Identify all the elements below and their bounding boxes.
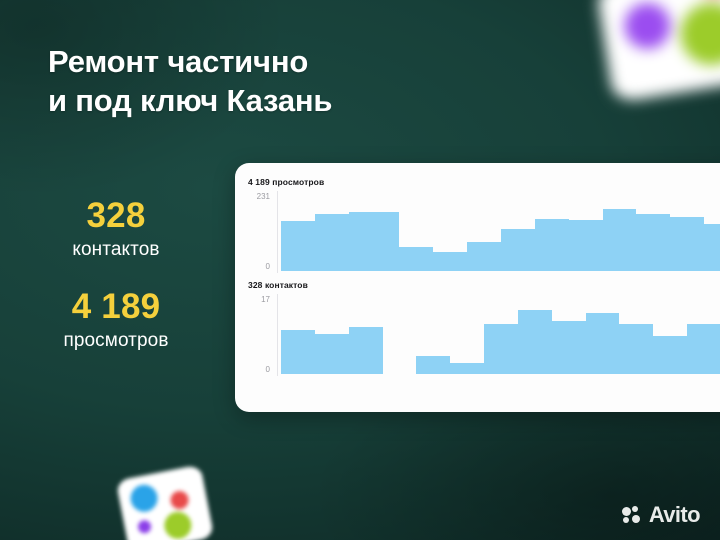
- tile-dot-green: [162, 510, 194, 540]
- statistics-card: 4 189 просмотров 231 0 328 контактов 17 …: [235, 163, 720, 412]
- tile-dot-blue: [128, 482, 160, 514]
- bar: [653, 214, 670, 271]
- stat-item-contacts: 328 контактов: [0, 196, 232, 261]
- chart-plot-area: 231 0: [235, 193, 720, 271]
- y-axis: 17 0: [235, 296, 279, 374]
- bar: [332, 214, 349, 271]
- bar: [518, 229, 535, 271]
- stat-value: 4 189: [0, 287, 232, 328]
- y-tick-max: 231: [257, 193, 270, 201]
- page-title: Ремонт частично и под ключ Казань: [48, 42, 468, 120]
- chart-views: 4 189 просмотров 231 0: [235, 163, 720, 271]
- stat-value: 328: [0, 196, 232, 237]
- avito-wordmark: Avito: [649, 504, 700, 526]
- chart-title: 328 контактов: [235, 271, 720, 290]
- stat-item-views: 4 189 просмотров: [0, 287, 232, 352]
- bar: [636, 324, 653, 374]
- bar: [535, 310, 552, 374]
- bar: [687, 324, 704, 374]
- bar: [586, 220, 603, 271]
- bar: [281, 330, 298, 374]
- y-tick-min: 0: [266, 366, 270, 374]
- avito-logo: Avito: [622, 504, 700, 526]
- bar: [349, 212, 366, 271]
- bar: [653, 336, 670, 374]
- chart-plot-area: 17 0: [235, 296, 720, 374]
- bar: [636, 214, 653, 271]
- bar: [281, 221, 298, 271]
- bar: [484, 324, 501, 374]
- tile-dot-green: [676, 0, 720, 69]
- bar: [687, 217, 704, 271]
- bar: [670, 336, 687, 374]
- bar: [416, 247, 433, 271]
- bar: [535, 219, 552, 271]
- bar: [467, 363, 484, 374]
- y-axis-line: [277, 294, 278, 376]
- bar: [450, 252, 467, 271]
- bar-series-views: [281, 193, 720, 271]
- bar-series-contacts: [281, 296, 720, 374]
- bar: [433, 252, 450, 271]
- bar: [484, 242, 501, 271]
- tile-dot-purple: [137, 519, 152, 534]
- bar: [467, 242, 484, 271]
- bar: [569, 321, 586, 374]
- bar: [552, 321, 569, 374]
- promo-banner: Ремонт частично и под ключ Казань 328 ко…: [0, 0, 720, 540]
- bar: [366, 327, 383, 374]
- tile-dot-red: [169, 490, 190, 511]
- bar: [298, 221, 315, 271]
- chart-contacts: 328 контактов 17 0: [235, 271, 720, 374]
- bar: [298, 330, 315, 374]
- bar: [603, 209, 620, 271]
- stats-list: 328 контактов 4 189 просмотров: [0, 196, 232, 353]
- bar: [552, 219, 569, 271]
- y-axis-line: [277, 191, 278, 273]
- bar: [586, 313, 603, 374]
- stat-label: контактов: [0, 239, 232, 262]
- bar: [569, 220, 586, 271]
- y-tick-max: 17: [261, 296, 270, 304]
- bar: [315, 334, 332, 374]
- chart-title: 4 189 просмотров: [235, 163, 720, 187]
- bar: [416, 356, 433, 374]
- bar: [603, 313, 620, 374]
- bar: [619, 324, 636, 374]
- bar: [619, 209, 636, 271]
- avito-dots-icon: [622, 506, 644, 524]
- y-tick-min: 0: [266, 263, 270, 271]
- bar: [349, 327, 366, 374]
- bar: [501, 324, 518, 374]
- bar: [315, 214, 332, 271]
- bar: [433, 356, 450, 374]
- y-axis: 231 0: [235, 193, 279, 271]
- tile-dot-purple: [621, 0, 674, 52]
- bar: [332, 334, 349, 374]
- bar: [450, 363, 467, 374]
- app-tile-icon: [116, 464, 215, 540]
- stat-label: просмотров: [0, 330, 232, 353]
- bar: [704, 324, 720, 374]
- bar: [399, 247, 416, 271]
- bar: [670, 217, 687, 271]
- bar: [704, 224, 720, 271]
- bar: [383, 212, 400, 271]
- bar: [501, 229, 518, 271]
- bar: [518, 310, 535, 374]
- bar: [366, 212, 383, 271]
- app-tile-icon: [596, 0, 720, 103]
